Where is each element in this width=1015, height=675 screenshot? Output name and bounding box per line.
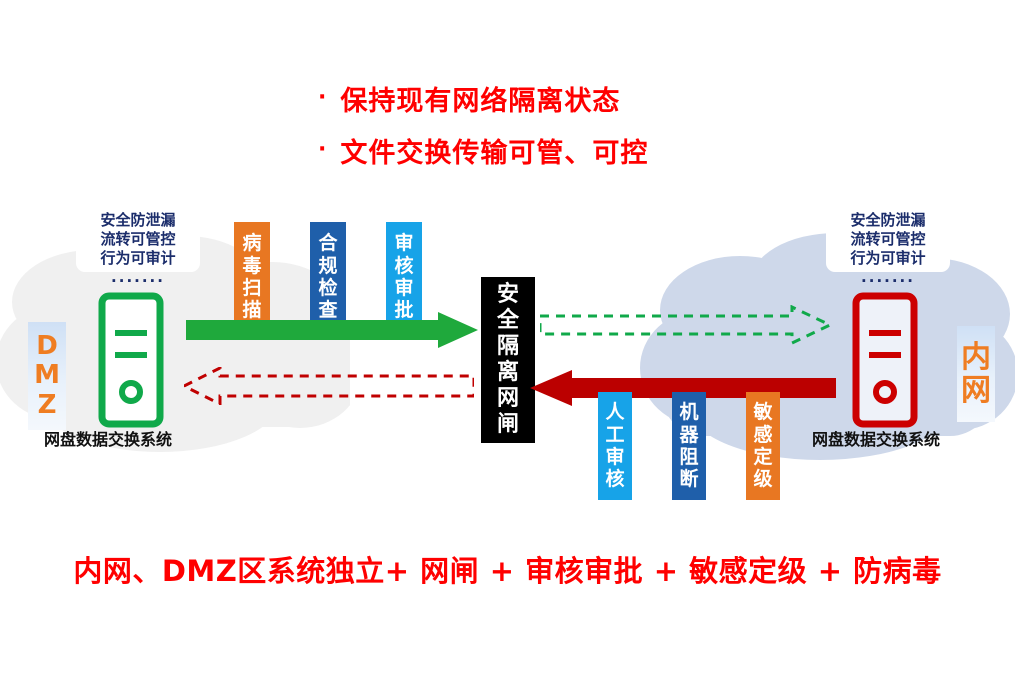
arrow-inbound-red-dashed (184, 367, 474, 405)
tag-char: 定 (753, 446, 772, 468)
bullet-list: · 保持现有网络隔离状态 · 文件交换传输可管、可控 (318, 72, 878, 176)
tag-char: 合 (318, 232, 337, 254)
gateway-char: 全 (497, 308, 519, 334)
diagram-canvas: · 保持现有网络隔离状态 · 文件交换传输可管、可控 (0, 0, 1015, 675)
zone-label-char: M (34, 361, 60, 390)
zone-label-dmz: D M Z (28, 322, 66, 430)
tag-char: 级 (753, 468, 772, 490)
callout-line: 行为可审计 (84, 249, 192, 268)
gateway-char: 离 (497, 360, 519, 386)
gateway-char: 安 (497, 282, 519, 308)
tag-char: 核 (394, 255, 413, 277)
tag-char: 检 (318, 277, 337, 299)
tag-char: 阻 (679, 446, 698, 468)
tag-char: 审 (394, 232, 413, 254)
gateway-char: 隔 (497, 334, 519, 360)
server-icon-intranet (852, 292, 918, 428)
gateway-char: 网 (497, 386, 519, 412)
bullet-marker-icon: · (318, 139, 326, 161)
gateway-char: 闸 (497, 412, 519, 438)
zone-label-char: Z (38, 391, 57, 420)
callout-intranet: 安全防泄漏 流转可管控 行为可审计 (826, 206, 950, 272)
tag-char: 病 (242, 232, 261, 254)
tag-char: 规 (318, 255, 337, 277)
tag-char: 审 (605, 446, 624, 468)
zone-label-char: 内 (961, 341, 991, 374)
tag-char: 核 (605, 468, 624, 490)
tag-char: 人 (605, 401, 624, 423)
callout-line: 流转可管控 (84, 230, 192, 249)
system-caption-intranet: 网盘数据交换系统 (812, 426, 940, 450)
footer-summary: 内网、DMZ区系统独立+ 网闸 + 审核审批 + 敏感定级 + 防病毒 (0, 548, 1015, 590)
tag-char: 审 (394, 277, 413, 299)
tag-char: 器 (679, 424, 698, 446)
tag-char: 工 (605, 424, 624, 446)
zone-label-intranet: 内 网 (957, 326, 995, 422)
bullet-text-2: 文件交换传输可管、可控 (340, 131, 648, 170)
zone-label-char: D (36, 332, 58, 361)
callout-dots-dmz: ······· (76, 272, 200, 290)
callout-line: 行为可审计 (834, 249, 942, 268)
callout-dmz: 安全防泄漏 流转可管控 行为可审计 (76, 206, 200, 272)
callout-dots-intranet: ······· (826, 272, 950, 290)
security-gateway-box: 安 全 隔 离 网 闸 (481, 277, 535, 443)
callout-line: 安全防泄漏 (834, 211, 942, 230)
tag-char: 毒 (242, 255, 261, 277)
tag-char: 机 (679, 401, 698, 423)
bullet-text-1: 保持现有网络隔离状态 (340, 79, 620, 118)
tag-char: 扫 (242, 277, 261, 299)
bullet-marker-icon: · (318, 87, 326, 109)
tag-sensitivity-grading: 敏 感 定 级 (746, 392, 780, 500)
tag-manual-review: 人 工 审 核 (598, 392, 632, 500)
tag-machine-block: 机 器 阻 断 (672, 392, 706, 500)
server-icon-dmz (98, 292, 164, 428)
arrow-outbound-green (186, 312, 478, 348)
bullet-item-2: · 文件交换传输可管、可控 (318, 124, 878, 176)
tag-char: 断 (679, 468, 698, 490)
zone-label-char: 网 (961, 374, 991, 407)
callout-line: 流转可管控 (834, 230, 942, 249)
tag-char: 敏 (753, 401, 772, 423)
callout-line: 安全防泄漏 (84, 211, 192, 230)
bullet-item-1: · 保持现有网络隔离状态 (318, 72, 878, 124)
arrow-outbound-green-dashed (540, 305, 832, 345)
system-caption-dmz: 网盘数据交换系统 (44, 426, 172, 450)
tag-char: 感 (753, 424, 772, 446)
